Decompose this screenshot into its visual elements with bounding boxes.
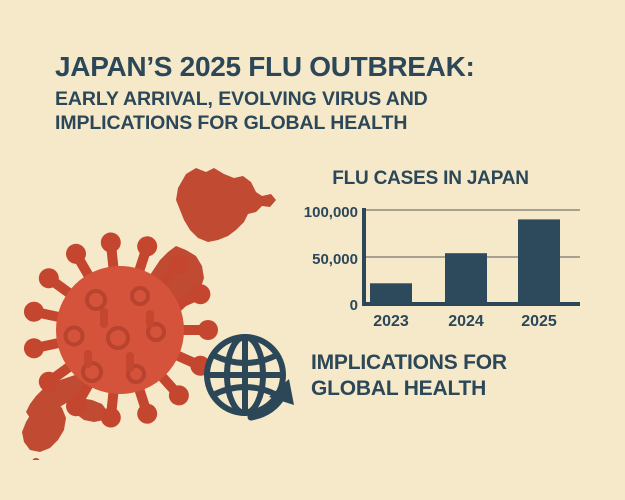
- xtick-label-2024: 2024: [448, 313, 484, 330]
- bar-2023: [370, 283, 412, 304]
- implications-line1: IMPLICATIONS FOR: [311, 351, 507, 374]
- implications-heading: IMPLICATIONS FOR GLOBAL HEALTH: [311, 350, 581, 403]
- infographic-canvas: JAPAN’S 2025 FLU OUTBREAK: EARLY ARRIVAL…: [0, 0, 625, 500]
- ytick-label-100000: 100,000: [304, 204, 358, 221]
- chart-plot-area: 100,000 50,000 0 2023 2024 2025: [278, 202, 583, 332]
- bar-2024: [445, 253, 487, 304]
- page-subtitle-line2: IMPLICATIONS FOR GLOBAL HEALTH: [55, 112, 575, 136]
- implications-line2: GLOBAL HEALTH: [311, 376, 581, 402]
- chart-title: FLU CASES IN JAPAN: [278, 168, 583, 190]
- page-subtitle-line1: EARLY ARRIVAL, EVOLVING VIRUS AND: [55, 88, 428, 110]
- title-block: JAPAN’S 2025 FLU OUTBREAK: EARLY ARRIVAL…: [55, 52, 575, 136]
- globe-arrow-icon: [199, 329, 297, 427]
- page-subtitle: EARLY ARRIVAL, EVOLVING VIRUS AND IMPLIC…: [55, 88, 575, 136]
- page-title: JAPAN’S 2025 FLU OUTBREAK:: [55, 52, 575, 81]
- ytick-label-0: 0: [350, 297, 358, 314]
- ytick-label-50000: 50,000: [312, 251, 358, 268]
- bar-2025: [518, 219, 560, 304]
- xtick-label-2023: 2023: [373, 313, 409, 330]
- xtick-label-2025: 2025: [521, 313, 557, 330]
- flu-cases-chart: FLU CASES IN JAPAN 100,000 50,000 0: [278, 168, 583, 333]
